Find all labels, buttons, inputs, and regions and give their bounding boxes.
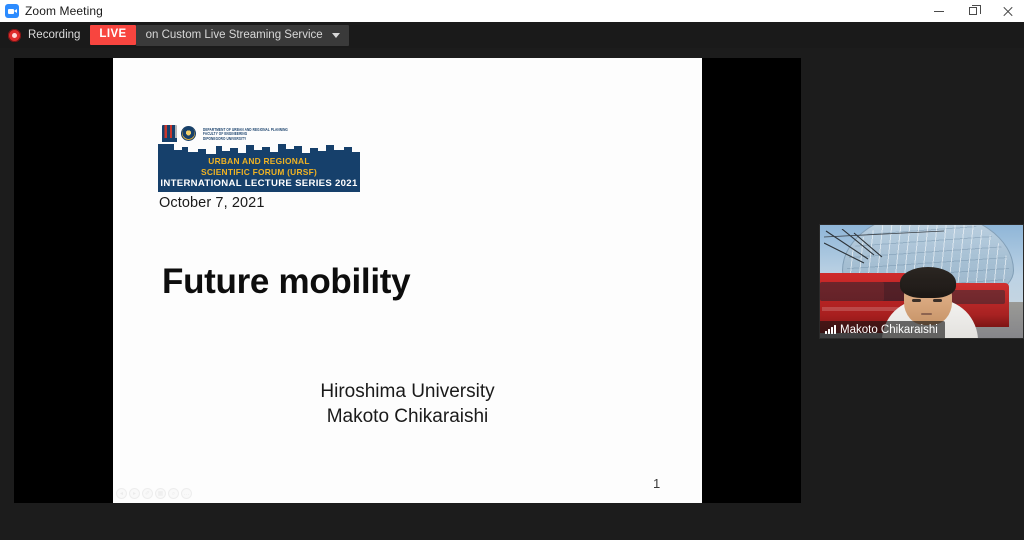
pen-tool-button[interactable]: ✐ [142, 488, 153, 499]
logo-banner-line-3: INTERNATIONAL LECTURE SERIES 2021 [158, 178, 360, 190]
minimize-button[interactable] [922, 0, 956, 22]
all-slides-button[interactable]: ▦ [155, 488, 166, 499]
minimize-icon [934, 11, 944, 12]
logo-banner-line-2: SCIENTIFIC FORUM (URSF) [158, 167, 360, 178]
window-title: Zoom Meeting [25, 4, 103, 18]
recording-dot-icon [8, 29, 21, 42]
self-view-video-tile[interactable]: Makoto Chikaraishi [819, 224, 1024, 339]
previous-slide-button[interactable]: ◂ [116, 488, 127, 499]
more-options-button[interactable]: … [181, 488, 192, 499]
presenter-name: Makoto Chikaraishi [113, 405, 702, 430]
recording-label: Recording [28, 29, 80, 41]
participant-eye-left [912, 299, 921, 302]
recording-status-bar: Recording LIVE on Custom Live Streaming … [0, 22, 1024, 48]
logo-department-line-3: DIPONEGORO UNIVERSITY [203, 136, 288, 142]
live-badge: LIVE [90, 25, 135, 45]
slide-date: October 7, 2021 [159, 195, 265, 211]
slide-title: Future mobility [162, 262, 410, 302]
participant-name-bar: Makoto Chikaraishi [820, 321, 945, 338]
logo-banner: URBAN AND REGIONAL SCIENTIFIC FORUM (URS… [158, 144, 360, 192]
university-seal-icon [181, 126, 196, 141]
slide-presenter-block: Hiroshima University Makoto Chikaraishi [113, 380, 702, 429]
live-stream-target-label: on Custom Live Streaming Service [146, 29, 323, 41]
participant-mouth [921, 313, 932, 315]
zoom-camera-icon [5, 4, 19, 18]
participant-eye-right [933, 299, 942, 302]
conference-logo: DEPARTMENT OF URBAN AND REGIONAL PLANNIN… [158, 125, 360, 192]
logo-department-text: DEPARTMENT OF URBAN AND REGIONAL PLANNIN… [203, 127, 288, 139]
participant-hair [900, 267, 956, 298]
zoom-slide-button[interactable]: ⌕ [168, 488, 179, 499]
logo-banner-line-1: URBAN AND REGIONAL [158, 156, 360, 167]
logo-header-row: DEPARTMENT OF URBAN AND REGIONAL PLANNIN… [158, 125, 360, 142]
live-stream-target-dropdown[interactable]: on Custom Live Streaming Service [136, 25, 349, 46]
restore-button[interactable] [956, 0, 990, 22]
close-icon [1002, 6, 1013, 17]
presentation-slide[interactable]: DEPARTMENT OF URBAN AND REGIONAL PLANNIN… [113, 58, 702, 503]
diponegoro-wordmark-icon [162, 125, 177, 142]
slide-page-number: 1 [653, 476, 660, 491]
participant-name-label: Makoto Chikaraishi [840, 324, 938, 336]
signal-bars-icon [825, 325, 836, 334]
chevron-down-icon [332, 33, 340, 38]
restore-icon [969, 7, 977, 15]
shared-screen-region[interactable]: DEPARTMENT OF URBAN AND REGIONAL PLANNIN… [14, 58, 801, 503]
window-controls [922, 0, 1024, 22]
next-slide-button[interactable]: ▸ [129, 488, 140, 499]
presenter-organization: Hiroshima University [113, 380, 702, 405]
close-button[interactable] [990, 0, 1024, 22]
logo-banner-text: URBAN AND REGIONAL SCIENTIFIC FORUM (URS… [158, 156, 360, 190]
window-title-bar: Zoom Meeting [0, 0, 1024, 22]
zoom-meeting-window: Zoom Meeting Recording LIVE on Custom Li… [0, 0, 1024, 540]
presenter-toolbar: ◂ ▸ ✐ ▦ ⌕ … [116, 488, 192, 499]
